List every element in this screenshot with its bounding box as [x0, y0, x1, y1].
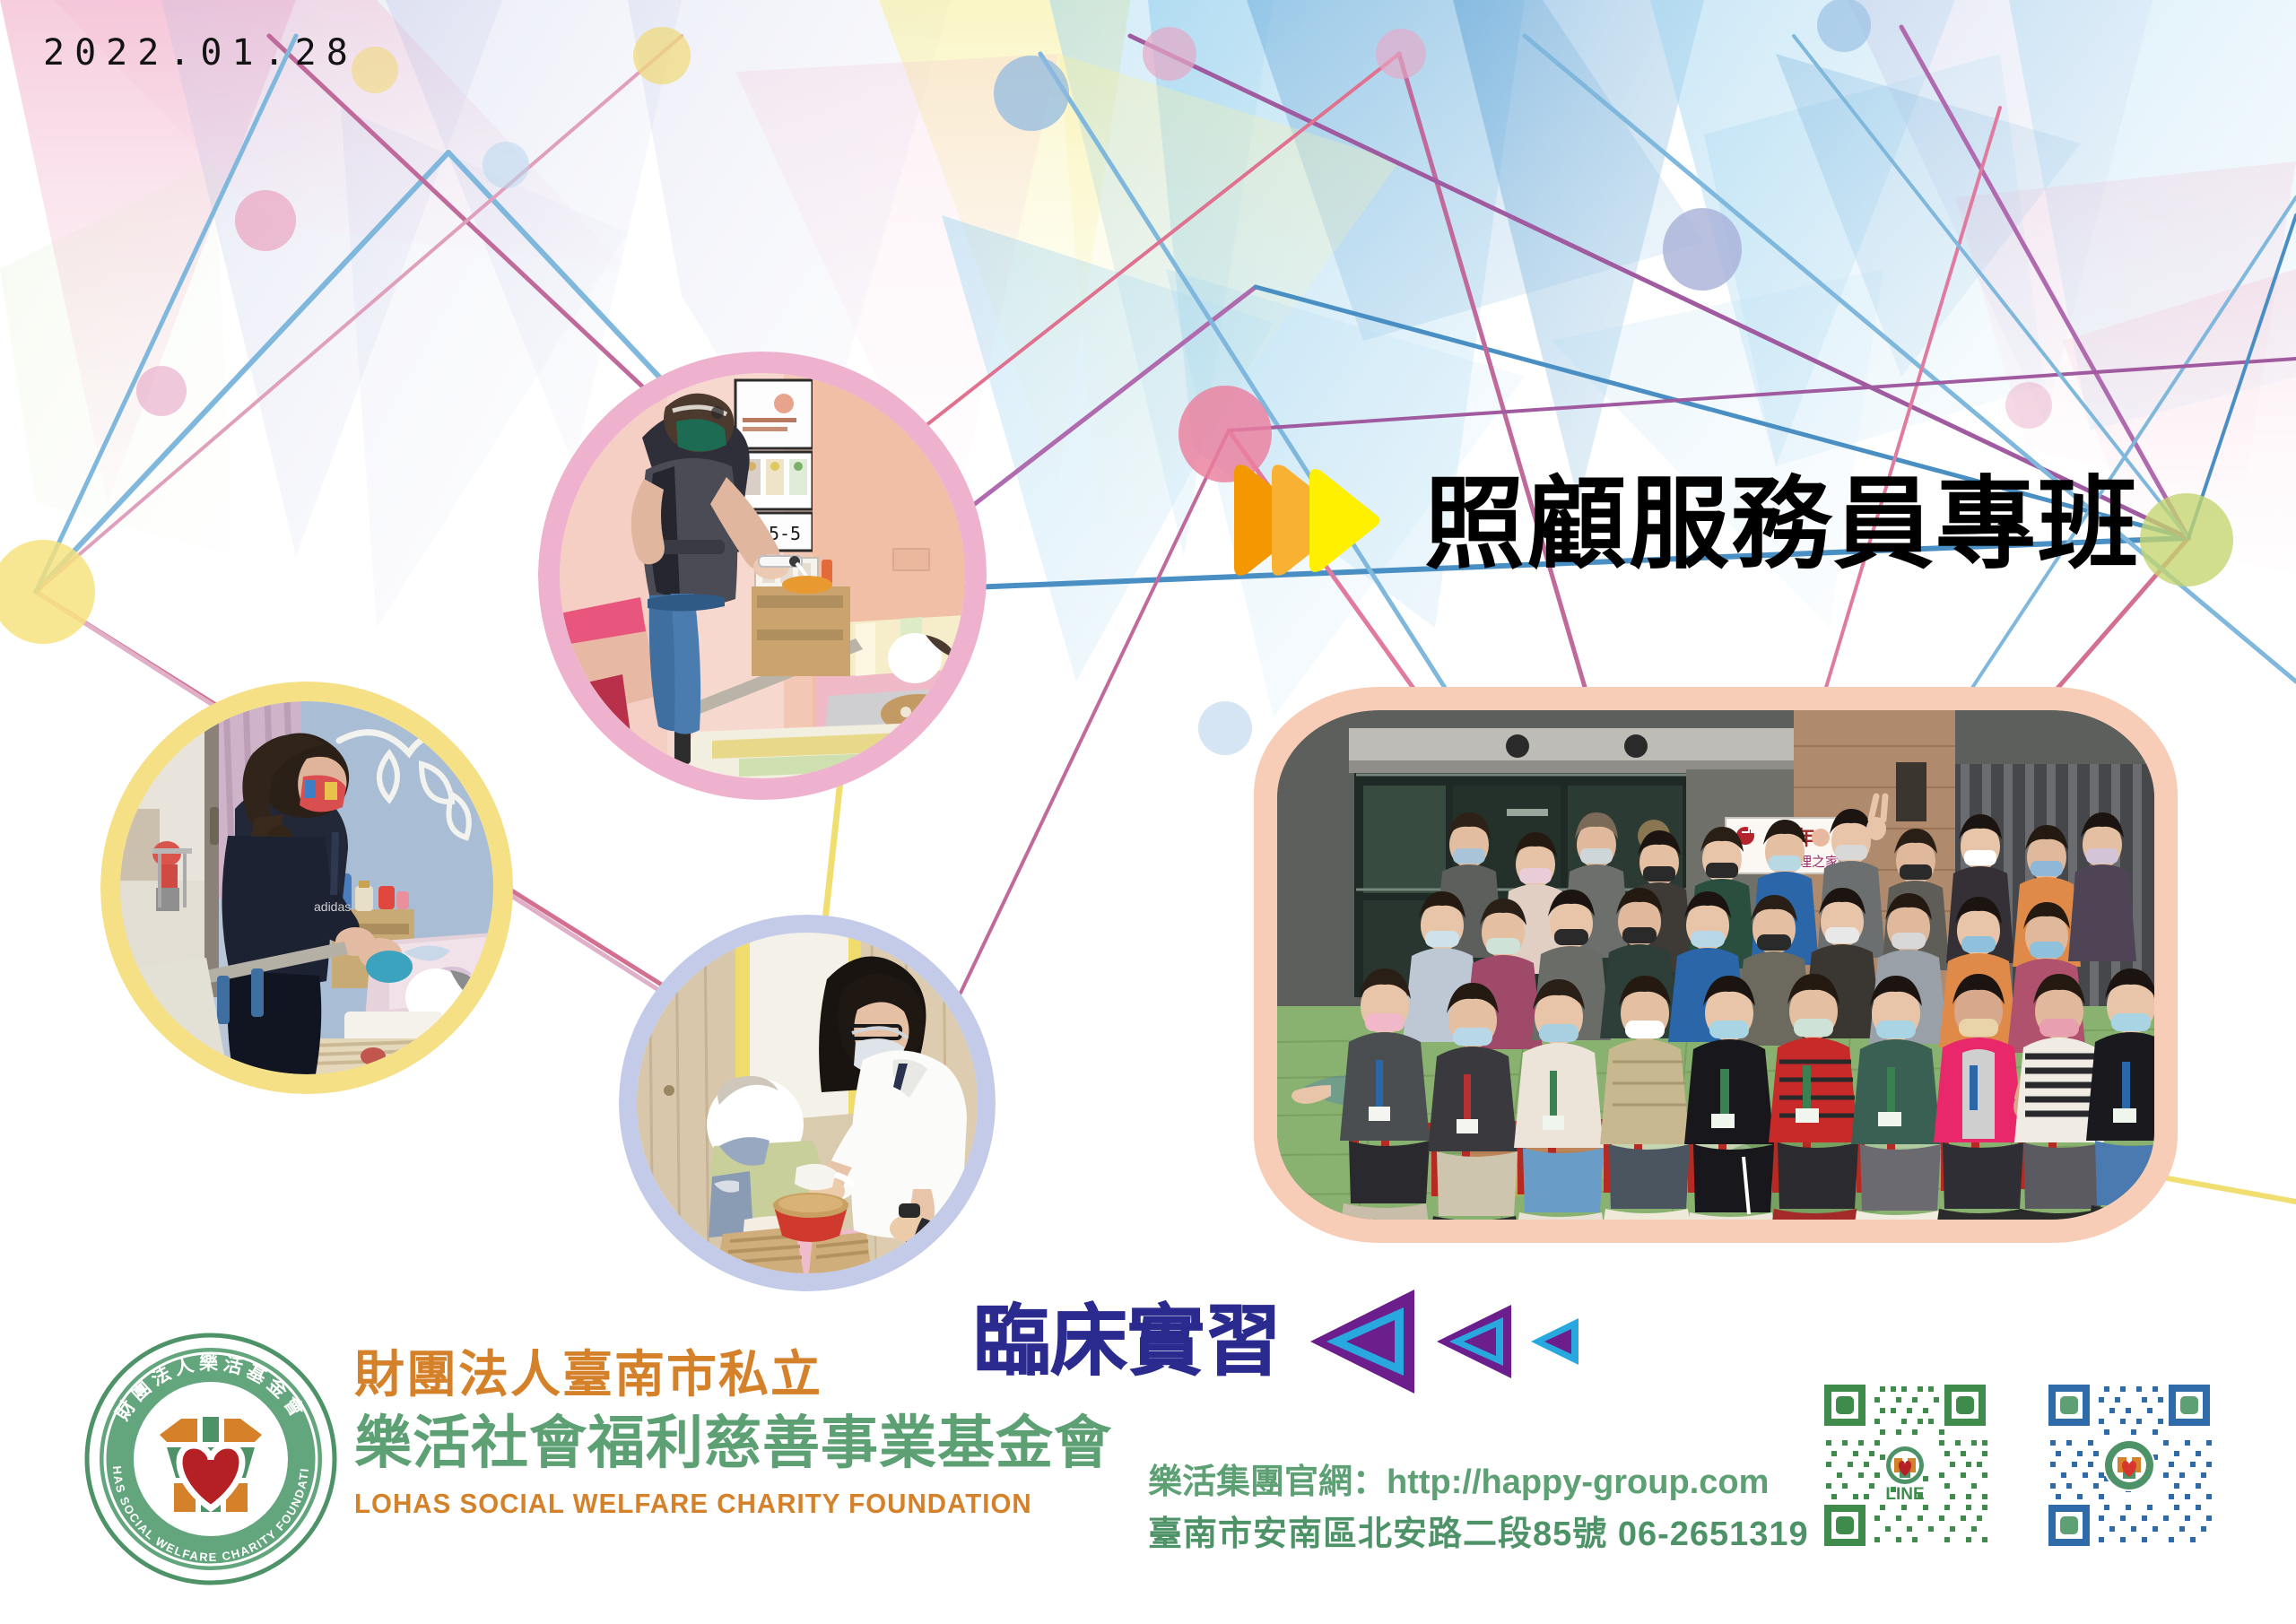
photo-group-image: 萬年 護理之家: [1277, 710, 2154, 1220]
contact-block: 樂活集團官網：http://happy-group.com 臺南市安南區北安路二…: [1148, 1462, 1809, 1556]
org-name-main: 樂活社會福利慈善事業基金會: [354, 1411, 1112, 1476]
triangle-left-small-icon: [1527, 1315, 1581, 1368]
org-name-english: LOHAS SOCIAL WELFARE CHARITY FOUNDATION: [354, 1489, 1074, 1519]
page-title: 照顧服務員專班: [1424, 474, 2140, 575]
foundation-logo: 財團法人樂活基金會 LOHAS SOCIAL WELFARE CHARITY F…: [81, 1329, 341, 1589]
photo-group: 萬年 護理之家: [1254, 687, 2178, 1243]
poster-canvas: 2022.01.28 205-5: [0, 0, 2296, 1624]
photo-feeding-ring: [619, 915, 996, 1291]
qr-line[interactable]: LINE: [1815, 1376, 1995, 1555]
title-play-marks-icon: [1229, 457, 1408, 592]
photo-female-caregiver-ring: [100, 682, 513, 1094]
website-line[interactable]: 樂活集團官網：http://happy-group.com: [1148, 1462, 1809, 1505]
poster-title-block: 照顧服務員專班: [1229, 457, 2140, 592]
qr-website[interactable]: [2039, 1376, 2219, 1555]
address-phone-line: 臺南市安南區北安路二段85號 06-2651319: [1148, 1514, 1809, 1557]
photo-female-caregiver: adidas: [100, 682, 513, 1094]
photo-bedside-care: 205-5: [538, 352, 987, 800]
org-name-prefix: 財團法人臺南市私立: [354, 1345, 1112, 1404]
photo-feeding: [619, 915, 996, 1291]
photo-bedside-care-ring: [538, 352, 987, 800]
triangle-left-large-icon: [1305, 1284, 1420, 1399]
triangle-left-medium-icon: [1432, 1300, 1515, 1383]
arrow-group: [1305, 1284, 1581, 1399]
qr-line-label: LINE: [1885, 1485, 1924, 1504]
organization-name-block: 財團法人臺南市私立 樂活社會福利慈善事業基金會 LOHAS SOCIAL WEL…: [354, 1345, 1112, 1519]
date-stamp: 2022.01.28: [43, 32, 358, 74]
